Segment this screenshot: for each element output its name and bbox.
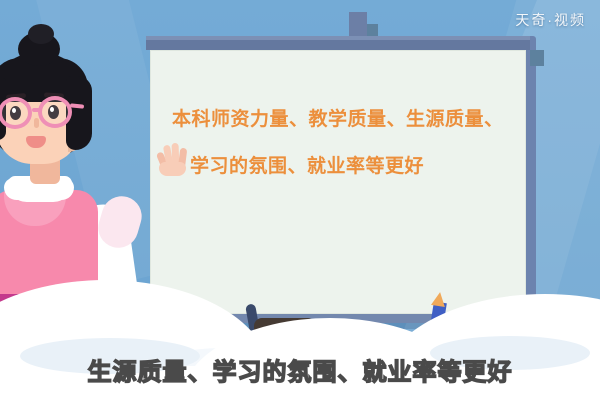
glasses-lens-right <box>38 96 72 128</box>
glasses-bridge <box>32 108 40 112</box>
whiteboard-text-block: 本科师资力量、教学质量、生源质量、 学习的氛围、就业率等更好 <box>172 96 522 190</box>
hair-bun-top <box>28 24 54 44</box>
whiteboard-text-line-2: 学习的氛围、就业率等更好 <box>172 143 522 190</box>
pencil-tip <box>431 291 447 307</box>
nose <box>34 118 39 128</box>
channel-watermark: 天奇·视频 <box>515 10 586 30</box>
whiteboard-clip-icon <box>530 50 544 66</box>
whiteboard-text-line-1: 本科师资力量、教学质量、生源质量、 <box>172 96 522 143</box>
whiteboard-frame-highlight <box>146 36 530 40</box>
whiteboard-top-frame <box>146 36 530 50</box>
subtitle-caption: 生源质量、学习的氛围、就业率等更好 <box>0 352 600 387</box>
video-frame: 天奇·视频 本科师资力量、教学质量、生源质量、 学习的氛围、就业率等更好 <box>0 0 600 400</box>
whiteboard-mount-icon <box>349 12 367 38</box>
whiteboard: 本科师资力量、教学质量、生源质量、 学习的氛围、就业率等更好 <box>146 36 530 321</box>
